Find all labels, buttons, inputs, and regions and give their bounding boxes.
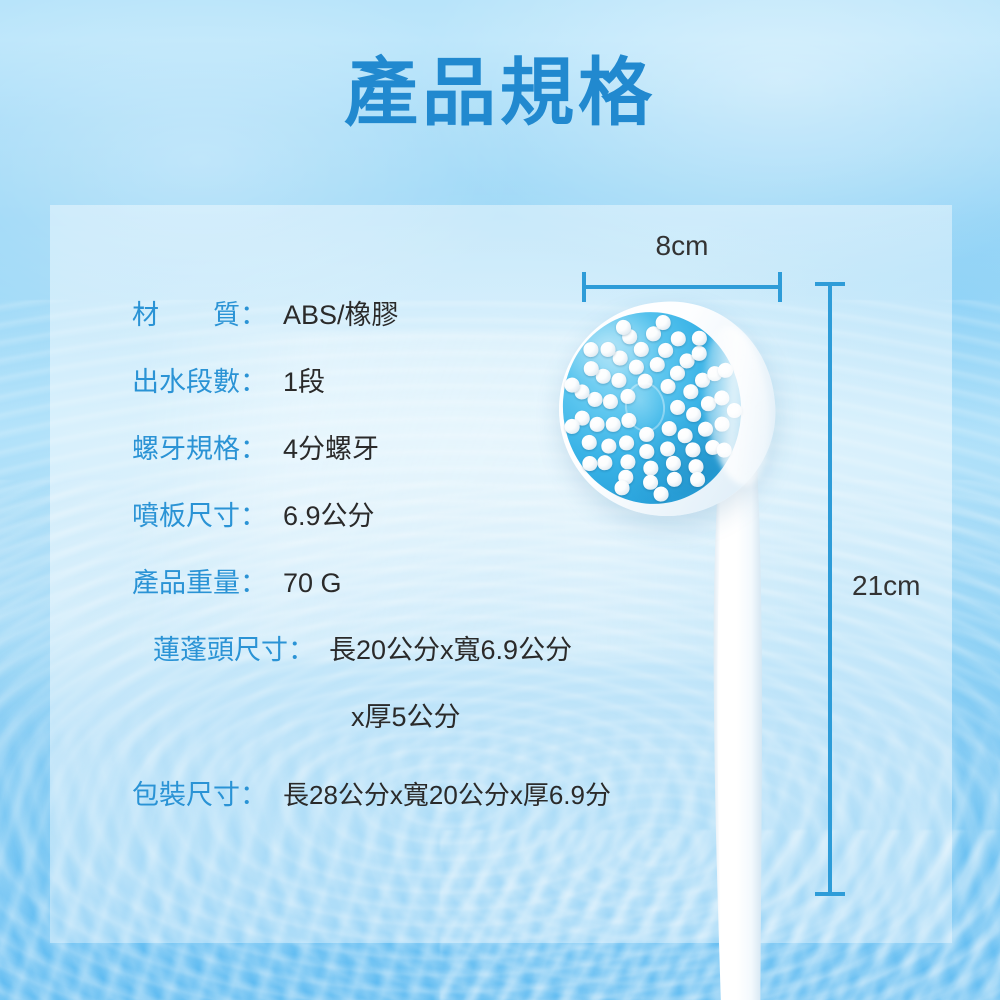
height-dimension-label: 21cm (852, 570, 920, 602)
spec-label: 蓮蓬頭尺寸： (62, 637, 315, 664)
dimension-cap-bottom (815, 892, 845, 896)
nozzle (670, 399, 687, 416)
nozzle (600, 438, 617, 455)
product-spec-image: 產品規格 材 質： ABS/橡膠 出水段數： 1段 螺牙規格： 4分螺牙 噴板尺… (0, 0, 1000, 1000)
nozzle (659, 378, 676, 395)
spec-list: 材 質： ABS/橡膠 出水段數： 1段 螺牙規格： 4分螺牙 噴板尺寸： 6.… (62, 302, 622, 849)
nozzle (685, 441, 702, 458)
spec-label: 螺牙規格： (62, 436, 267, 463)
spec-row: 材 質： ABS/橡膠 (62, 302, 622, 369)
spec-label: 出水段數： (62, 369, 267, 396)
nozzle (633, 341, 650, 358)
shower-head-face (555, 290, 805, 540)
nozzle (638, 443, 655, 460)
nozzle (583, 341, 600, 358)
nozzle (596, 455, 613, 472)
spec-row: 產品重量： 70 G (62, 570, 622, 637)
nozzle (589, 416, 606, 433)
spec-label: 產品重量： (62, 570, 267, 597)
spec-label: 噴板尺寸： (62, 503, 267, 530)
nozzle (602, 393, 619, 410)
nozzle (665, 455, 682, 472)
dimension-cap-right (778, 272, 782, 302)
nozzle (605, 416, 622, 433)
nozzle (691, 330, 708, 347)
spec-row: 出水段數： 1段 (62, 369, 622, 436)
spec-row: 噴板尺寸： 6.9公分 (62, 503, 622, 570)
spec-row: 包裝尺寸： 長28公分x寬20公分x厚6.9分 (62, 782, 622, 849)
nozzle (618, 434, 635, 451)
nozzle (564, 418, 581, 435)
nozzle (610, 372, 627, 389)
nozzle (666, 471, 683, 488)
spec-label: 材 質： (62, 302, 267, 329)
nozzle (582, 455, 599, 472)
spec-label: 包裝尺寸： (62, 782, 267, 809)
nozzle (619, 453, 636, 470)
nozzle (657, 342, 674, 359)
height-dimension: 21cm (810, 282, 850, 896)
nozzle (685, 406, 702, 423)
nozzle (660, 421, 677, 438)
nozzle (642, 459, 659, 476)
nozzle (670, 331, 687, 348)
shower-head-image (555, 290, 805, 910)
nozzle (581, 434, 598, 451)
width-dimension-label: 8cm (582, 230, 782, 262)
dimension-bar (828, 282, 832, 896)
nozzle (653, 485, 670, 502)
nozzle (649, 356, 666, 373)
spec-row: 蓮蓬頭尺寸： 長20公分x寬6.9公分 (62, 637, 622, 704)
nozzle (628, 359, 645, 376)
nozzle (677, 427, 694, 444)
spec-row-continuation: x厚5公分 (62, 704, 622, 782)
dimension-bar (582, 285, 782, 289)
nozzle (689, 472, 706, 489)
spec-row: 螺牙規格： 4分螺牙 (62, 436, 622, 503)
nozzle (660, 441, 677, 458)
width-dimension: 8cm (582, 272, 782, 302)
page-title: 產品規格 (0, 56, 1000, 130)
